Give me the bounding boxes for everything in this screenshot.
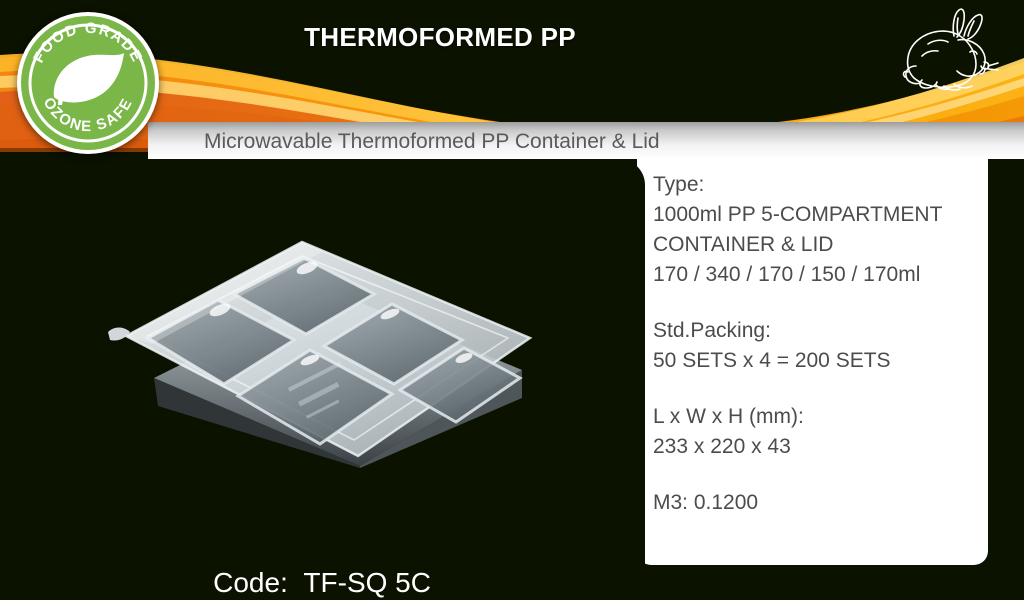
code-prefix: Code: xyxy=(213,567,288,598)
spacer-2 xyxy=(653,376,983,402)
type-value-line-2: CONTAINER & LID xyxy=(653,230,983,260)
type-value-line-1: 1000ml PP 5-COMPARTMENT xyxy=(653,200,983,230)
type-label: Type: xyxy=(653,170,983,200)
packing-label: Std.Packing: xyxy=(653,316,983,346)
info-panel-content: Type: 1000ml PP 5-COMPARTMENT CONTAINER … xyxy=(653,170,983,560)
product-spec-sheet: THERMOFORMED PP xyxy=(0,0,1024,600)
product-code-label: Code: TF-SQ 5C xyxy=(182,523,602,563)
packing-value: 50 SETS x 4 = 200 SETS xyxy=(653,346,983,376)
spacer-1 xyxy=(653,290,983,316)
dimension-label: L x W x H (mm): xyxy=(653,402,983,432)
spacer-3 xyxy=(653,462,983,488)
type-value-line-3: 170 / 340 / 170 / 150 / 170ml xyxy=(653,260,983,290)
product-photo-5-compartment-container xyxy=(92,228,542,478)
code-value: TF-SQ 5C xyxy=(303,567,431,598)
food-grade-ozone-safe-badge: FOOD GRADE OZONE SAFE xyxy=(14,9,162,157)
m3-line: M3: 0.1200 xyxy=(653,488,983,518)
subtitle-text: Microwavable Thermoformed PP Container &… xyxy=(204,126,904,158)
dimension-value: 233 x 220 x 43 xyxy=(653,432,983,462)
rabbit-logo-icon xyxy=(892,6,1002,106)
